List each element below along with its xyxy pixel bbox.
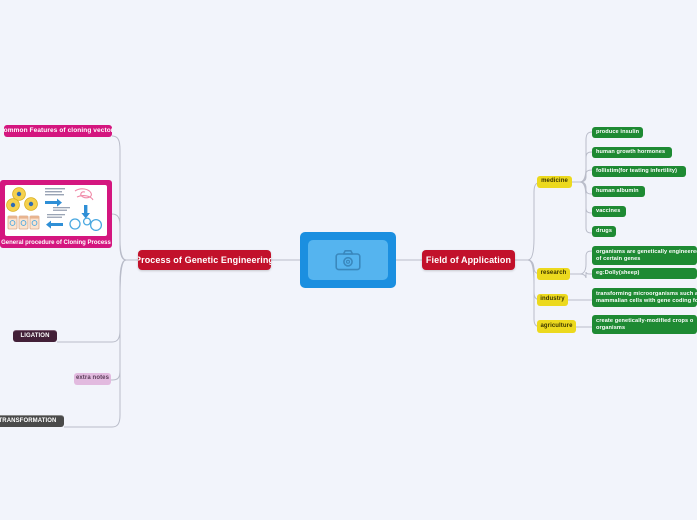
mindmap-canvas[interactable]: Process of Genetic Engineering Field of … — [0, 0, 697, 520]
node-general-procedure-label: General procedure of Cloning Process — [0, 240, 112, 246]
main-topic-process-of-genetic-engineering[interactable]: Process of Genetic Engineering — [138, 250, 271, 270]
main-topic-left-label: Process of Genetic Engineering — [138, 255, 271, 266]
node-create-gm-crops[interactable]: create genetically-modified crops o orga… — [592, 315, 697, 334]
node-organisms-genetically-engineered[interactable]: organisms are genetically engineered of … — [592, 246, 697, 265]
node-medicine-label: medicine — [541, 178, 568, 185]
node-extra-notes[interactable]: extra notes — [74, 373, 111, 385]
node-eg-dolly-sheep[interactable]: eg:Dolly(sheep) — [592, 268, 697, 279]
node-drugs[interactable]: drugs — [592, 226, 616, 237]
node-eg-dolly-label: eg:Dolly(sheep) — [596, 270, 639, 277]
cloning-diagram-svg — [5, 185, 107, 231]
node-transformation[interactable]: TRANSFORMATION — [0, 415, 64, 427]
node-transforming-microorganisms-label: transforming microorganisms such a mamma… — [596, 291, 697, 305]
node-industry-label: industry — [540, 296, 564, 303]
node-human-albumin-label: human albumin — [596, 188, 639, 195]
node-drugs-label: drugs — [596, 228, 612, 235]
cloning-process-diagram-image — [5, 185, 107, 236]
node-follistim-label: follistim(for teating infertility) — [596, 168, 677, 175]
camera-icon — [335, 249, 361, 271]
node-research-label: research — [541, 270, 567, 277]
node-agriculture-label: agriculture — [540, 323, 572, 330]
node-create-gm-crops-label: create genetically-modified crops o orga… — [596, 318, 693, 332]
node-human-albumin[interactable]: human albumin — [592, 186, 645, 197]
node-produce-insulin[interactable]: produce insulin — [592, 127, 643, 138]
node-medicine[interactable]: medicine — [537, 176, 572, 188]
node-common-features-of-cloning-vectors[interactable]: Common Features of cloning vectors — [4, 125, 112, 137]
node-vaccines-label: vaccines — [596, 208, 620, 215]
node-produce-insulin-label: produce insulin — [596, 129, 639, 136]
node-human-growth-hormones[interactable]: human growth hormones — [592, 147, 672, 158]
node-industry[interactable]: industry — [537, 294, 568, 306]
node-ligation-label: LIGATION — [20, 333, 49, 340]
central-image-node[interactable] — [300, 232, 396, 288]
node-research[interactable]: research — [537, 268, 570, 280]
node-vaccines[interactable]: vaccines — [592, 206, 626, 217]
node-transformation-label: TRANSFORMATION — [0, 418, 56, 425]
node-transforming-microorganisms[interactable]: transforming microorganisms such a mamma… — [592, 288, 697, 307]
node-organisms-engineered-label: organisms are genetically engineered of … — [596, 249, 697, 263]
node-general-procedure-of-cloning-process[interactable]: General procedure of Cloning Process — [0, 180, 112, 248]
node-common-features-label: Common Features of cloning vectors — [4, 127, 112, 135]
node-agriculture[interactable]: agriculture — [537, 320, 576, 333]
node-extra-notes-label: extra notes — [76, 375, 109, 382]
node-follistim-for-teating-infertility[interactable]: follistim(for teating infertility) — [592, 166, 686, 177]
node-ligation[interactable]: LIGATION — [13, 330, 57, 342]
main-topic-field-of-application[interactable]: Field of Application — [422, 250, 515, 270]
main-topic-right-label: Field of Application — [426, 255, 511, 266]
image-placeholder-inner — [308, 240, 388, 280]
node-human-growth-hormones-label: human growth hormones — [596, 149, 665, 156]
